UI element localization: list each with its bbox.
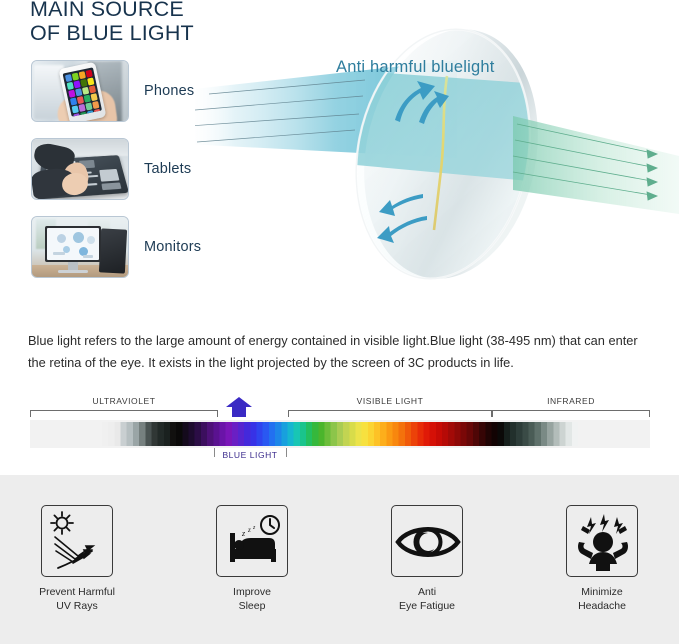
benefit-minimize-headache: Minimize Headache bbox=[532, 505, 672, 613]
band-rule-infrared bbox=[492, 410, 650, 417]
page-title: MAIN SOURCE OF BLUE LIGHT bbox=[30, 0, 194, 45]
svg-text:z: z bbox=[241, 529, 246, 538]
svg-text:z: z bbox=[247, 526, 251, 534]
spectrum-gradient-bar bbox=[102, 422, 578, 446]
intro-paragraph: Blue light refers to the large amount of… bbox=[28, 330, 642, 374]
spectrum-bar-background bbox=[30, 420, 650, 448]
sun-uv-shield-icon bbox=[41, 505, 113, 577]
bed-sleep-clock-icon: z z z bbox=[216, 505, 288, 577]
band-label-visible-light: VISIBLE LIGHT bbox=[288, 396, 492, 406]
band-rule-ultraviolet bbox=[30, 410, 218, 417]
benefit-label: Prevent Harmful UV Rays bbox=[7, 586, 147, 613]
band-rule-visible-light bbox=[288, 410, 492, 417]
benefit-label: Improve Sleep bbox=[182, 586, 322, 613]
benefit-anti-eye-fatigue: Anti Eye Fatigue bbox=[357, 505, 497, 613]
lens-diagram-title: Anti harmful bluelight bbox=[336, 58, 494, 77]
monitor-photo-thumbnail bbox=[31, 216, 129, 278]
benefit-label: Minimize Headache bbox=[532, 586, 672, 613]
eye-icon bbox=[391, 505, 463, 577]
band-label-ultraviolet: ULTRAVIOLET bbox=[30, 396, 218, 406]
headache-person-icon bbox=[566, 505, 638, 577]
tablet-photo-thumbnail bbox=[31, 138, 129, 200]
source-label: Phones bbox=[144, 83, 194, 99]
blue-light-marker-arrow bbox=[226, 397, 252, 417]
benefits-section: Prevent Harmful UV Rays z bbox=[0, 475, 679, 644]
light-spectrum-chart: ULTRAVIOLET VISIBLE LIGHT INFRARED BLUE … bbox=[30, 396, 650, 466]
lens-diagram: Anti harmful bluelight bbox=[195, 18, 679, 308]
source-label: Tablets bbox=[144, 161, 191, 177]
blue-light-label: BLUE LIGHT bbox=[200, 450, 300, 460]
svg-text:z: z bbox=[252, 525, 256, 531]
top-section: MAIN SOURCE OF BLUE LIGHT bbox=[0, 0, 679, 318]
source-label: Monitors bbox=[144, 239, 201, 255]
band-label-infrared: INFRARED bbox=[492, 396, 650, 406]
benefit-improve-sleep: z z z Improve Sleep bbox=[182, 505, 322, 613]
phone-photo-thumbnail bbox=[31, 60, 129, 122]
benefit-label: Anti Eye Fatigue bbox=[357, 586, 497, 613]
benefit-prevent-uv: Prevent Harmful UV Rays bbox=[7, 505, 147, 613]
outgoing-green-beam bbox=[513, 116, 679, 214]
